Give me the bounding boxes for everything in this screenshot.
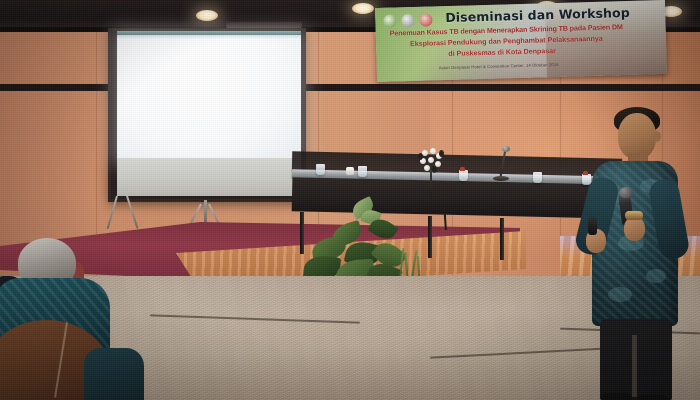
downlight-icon <box>196 10 218 21</box>
logo-green-icon <box>383 14 396 27</box>
flower-leaf <box>432 166 437 173</box>
water-glass <box>533 172 542 183</box>
banner-subtitle-line3: di Puskesmas di Kota Denpasar <box>448 47 556 58</box>
screen-top-glow <box>117 31 301 39</box>
water-glass <box>358 166 367 177</box>
screen-lower-band <box>117 158 301 196</box>
logo-grey-icon <box>401 14 414 27</box>
water-glass <box>459 170 468 181</box>
water-glass <box>316 164 325 175</box>
wall-trim-band <box>0 84 700 91</box>
event-banner: Diseminasi dan Workshop Penemuan Kasus T… <box>375 0 667 82</box>
flower-petal <box>428 157 434 163</box>
flower-arrangement <box>418 148 444 174</box>
microphone-base <box>493 176 509 181</box>
presenter-ear <box>653 131 661 142</box>
presenter-shoe <box>602 393 632 400</box>
seminar-photo: Diseminasi dan Workshop Penemuan Kasus T… <box>0 0 700 400</box>
downlight-icon <box>352 3 374 14</box>
presenter <box>580 105 700 400</box>
screen-surface <box>117 35 301 158</box>
glass-cover <box>460 167 465 171</box>
batik-motif <box>646 269 666 283</box>
banner-logo-group <box>383 13 432 27</box>
flower-petal <box>430 148 436 154</box>
flower-leaf <box>439 150 444 157</box>
projection-screen <box>108 28 306 218</box>
presenter-right-hand <box>624 217 645 241</box>
audience-member-second <box>84 348 144 400</box>
screen-frame <box>108 28 306 202</box>
batik-motif <box>608 287 632 302</box>
presenter-remote <box>588 217 597 235</box>
gooseneck-microphone-icon <box>502 146 510 152</box>
flower-stem <box>430 170 432 198</box>
table-leg <box>500 218 504 260</box>
logo-red-icon <box>419 13 432 26</box>
presenter-shoe <box>638 395 668 400</box>
paper-cup <box>346 167 354 175</box>
wristwatch <box>625 211 643 220</box>
flower-leaf <box>418 153 423 160</box>
trouser-gap <box>632 335 637 397</box>
